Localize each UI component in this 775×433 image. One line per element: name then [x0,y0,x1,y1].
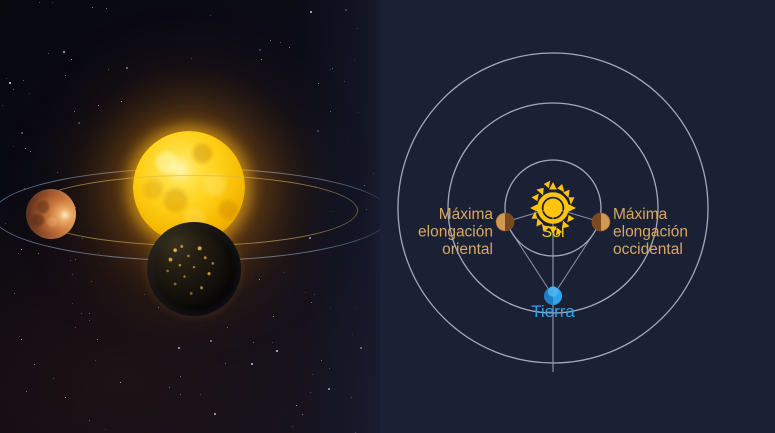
star [39,2,40,3]
planet-marker-eastern-elongation [496,213,514,231]
star [310,392,311,393]
star [373,173,374,174]
star [292,426,293,427]
star [302,414,303,415]
star [75,327,76,328]
star [25,148,26,149]
star [29,93,30,94]
star [97,339,98,340]
star [351,397,352,398]
star [9,82,11,84]
star [332,68,333,69]
star [91,281,92,282]
star [251,363,253,365]
star [200,394,201,395]
star [178,347,180,349]
star [253,342,254,343]
star [276,350,278,352]
star [261,59,262,60]
star [72,303,73,304]
star [317,130,319,132]
star [158,307,159,308]
star [89,420,90,421]
star [296,405,297,406]
western-elongation-label-line-2: elongación [613,224,688,241]
star [14,293,15,294]
eastern-elongation-label-line-3: oriental [442,241,493,258]
star [330,69,331,70]
star [354,60,355,61]
star [318,83,319,84]
star [30,151,31,152]
star [180,376,181,377]
star [2,105,3,106]
star [344,81,345,82]
star [121,101,122,102]
star [289,47,290,48]
star [180,394,181,395]
star [360,347,362,349]
star [330,111,331,112]
star [352,334,353,335]
star [126,67,128,69]
star [312,374,313,375]
star [210,340,212,342]
star [210,15,211,16]
star [23,80,24,81]
earth-label: Tierra [531,302,575,321]
star [169,387,170,388]
star [225,363,226,364]
star [273,316,274,317]
star [345,9,347,11]
earth-limb-glow [147,222,241,316]
astronomy-diagram-stage: Sol Tierra Máxima elongación oriental Má… [0,0,775,433]
eastern-elongation-label-line-2: elongación [418,224,493,241]
star [57,172,58,173]
star [321,360,322,361]
star [38,253,39,254]
star [259,49,261,51]
star [71,59,72,60]
star [310,11,312,13]
star [18,253,19,254]
star [21,339,22,340]
star [357,28,358,29]
star [21,249,22,250]
star [89,313,90,314]
eastern-elongation-label-line-1: Máxima [439,206,494,223]
star [284,272,285,273]
star [75,259,76,260]
elongation-schematic-panel: Sol Tierra Máxima elongación oriental Má… [380,0,775,433]
star [364,185,365,186]
star [26,391,27,392]
star [78,122,80,124]
star [13,89,14,90]
earth-sphere-render [147,222,241,316]
star [120,382,121,383]
star [89,320,90,321]
star [13,146,14,147]
star [270,40,271,41]
star [227,327,228,328]
star [329,368,330,369]
star [72,274,73,275]
star [191,58,192,59]
sun-label: Sol [541,224,564,241]
star [314,294,315,295]
space-render-panel [0,0,395,433]
star [108,69,109,70]
star [6,78,7,79]
star [98,105,99,106]
western-elongation-label-line-1: Máxima [613,206,668,223]
star [272,342,273,343]
star [328,388,330,390]
eastern-elongation-label: Máxima elongación oriental [418,206,493,258]
star [70,260,71,261]
western-elongation-label-line-3: occidental [613,241,683,258]
star [63,51,65,53]
star [21,132,23,134]
star [53,378,54,379]
star [311,302,312,303]
star [356,308,357,309]
star [95,360,96,361]
star [305,292,306,293]
star [34,364,35,365]
star [92,7,93,8]
star [19,336,20,337]
star [214,413,216,415]
star [330,308,331,309]
mercury-sphere-render [26,189,76,239]
star [105,429,106,430]
planet-marker-western-elongation [592,213,610,231]
star [81,313,82,314]
mercury-surface-texture [26,189,76,239]
star [358,112,359,113]
star [65,397,66,398]
star [259,279,260,280]
star [74,111,75,112]
star [48,53,49,54]
star [106,8,107,9]
star [280,42,281,43]
star [65,75,66,76]
western-elongation-label: Máxima elongación occidental [613,206,688,258]
star [52,2,53,3]
star [144,294,145,295]
